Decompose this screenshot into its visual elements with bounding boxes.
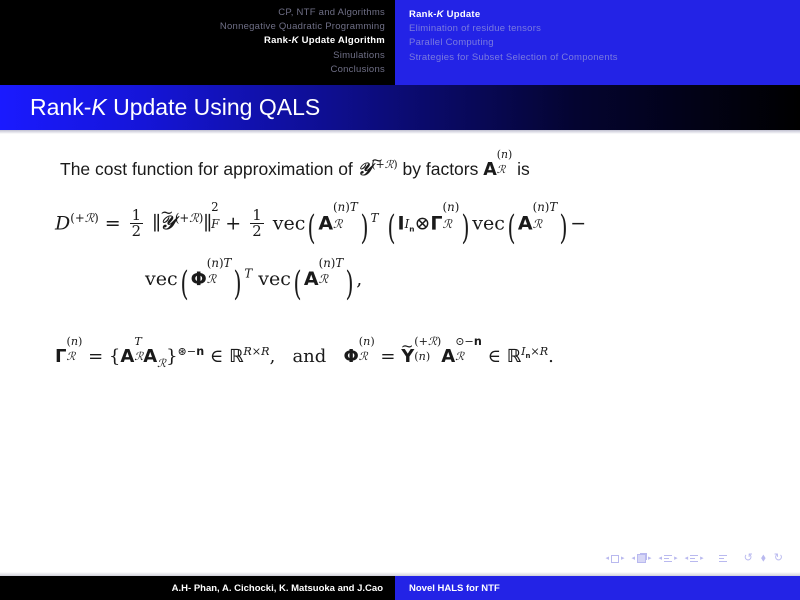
nav-item-label: CP, NTF and Algorithms — [278, 7, 385, 18]
footer-paper-title: Novel HALS for NTF — [409, 583, 500, 594]
lead-text-part2: by factors — [403, 159, 479, 179]
nav-item-nonnegative-quadratic-programming[interactable]: Nonnegative Quadratic Programming — [220, 20, 385, 34]
nav-item-label-suffix: Update — [444, 9, 481, 20]
frame-cube-icon[interactable] — [637, 554, 646, 563]
nav-item-rank-k-update-algorithm[interactable]: Rank-K Update Algorithm — [264, 34, 385, 48]
nav-item-cp-ntf-and-algorithms[interactable]: CP, NTF and Algorithms — [278, 6, 385, 20]
footer-authors: A.H- Phan, A. Cichocki, K. Matsuoka and … — [172, 583, 383, 594]
next-section-triangle-icon[interactable]: ▸ — [700, 555, 704, 562]
subsection-bars-icon[interactable] — [664, 555, 672, 562]
slide-title-bar: Rank-K Update Using QALS — [0, 85, 800, 130]
forward-arrow-icon[interactable]: ↻ — [774, 553, 784, 564]
lead-sentence: The cost function for approximation of ~… — [60, 156, 530, 180]
nav-item-label-prefix: Rank- — [264, 35, 292, 46]
nav-item-strategies-for-subset-selection[interactable]: Strategies for Subset Selection of Compo… — [409, 51, 618, 65]
nav-item-label: Elimination of residue tensors — [409, 23, 541, 34]
back-arrow-icon[interactable]: ↺ — [744, 553, 754, 564]
presentation-slide: CP, NTF and Algorithms Nonnegative Quadr… — [0, 0, 800, 600]
slide-navigation-group[interactable]: ◂ ▸ — [605, 555, 624, 563]
nav-item-conclusions[interactable]: Conclusions — [331, 63, 386, 77]
slide-body: The cost function for approximation of ~… — [0, 134, 800, 574]
cost-function-equation-line1: D(+ℛ) = 12 ∥~𝒴(+ℛ)∥2F + 12 vec(A(n)Tℛ)T … — [55, 208, 586, 247]
vec-operator-label-2: vec — [472, 212, 505, 234]
and-connector-label: and — [292, 346, 326, 367]
cost-function-equation-line2: vec(Φ(n)Tℛ)T vec(A(n)Tℛ), — [145, 264, 362, 303]
gamma-phi-definitions-equation: Γ(n)ℛ = {ATℛAℛ}⊛−n ∈ ℝR×R, and Φ(n)ℛ = ~… — [55, 342, 554, 367]
next-slide-triangle-icon[interactable]: ▸ — [621, 555, 625, 562]
presentation-overview-bars-icon[interactable] — [719, 555, 727, 562]
tensor-y-plus-r-symbol: ~𝒴(+ℛ) — [358, 160, 398, 180]
nav-item-label-prefix: Rank- — [409, 9, 437, 20]
subsection-navigation: Rank-K Update Elimination of residue ten… — [395, 0, 800, 85]
nav-item-label: Simulations — [333, 50, 385, 61]
subsection-navigation-group[interactable]: ◂ ▸ — [659, 555, 678, 562]
vec-operator-label-4: vec — [258, 268, 291, 290]
nav-item-label: Nonnegative Quadratic Programming — [220, 21, 385, 32]
nav-item-label: Parallel Computing — [409, 37, 494, 48]
nav-item-elimination-of-residue-tensors[interactable]: Elimination of residue tensors — [409, 22, 541, 36]
previous-section-triangle-icon[interactable]: ◂ — [685, 555, 689, 562]
nav-item-label-variable: K — [437, 9, 444, 20]
lead-text-part1: The cost function for approximation of — [60, 159, 353, 179]
page-title-prefix: Rank- — [30, 94, 91, 120]
slide-header-navigation: CP, NTF and Algorithms Nonnegative Quadr… — [0, 0, 800, 85]
beamer-navigation-symbols: ◂ ▸ ◂ ▸ ◂ ▸ ◂ ▸ ↺ ⬧ ↻ — [605, 553, 784, 564]
nav-item-parallel-computing[interactable]: Parallel Computing — [409, 36, 494, 50]
page-title-suffix: Update Using QALS — [107, 94, 321, 120]
previous-subsection-triangle-icon[interactable]: ◂ — [659, 555, 663, 562]
nav-item-label-variable: K — [292, 35, 299, 46]
frame-navigation-group[interactable]: ◂ ▸ — [632, 554, 652, 563]
slide-footer: A.H- Phan, A. Cichocki, K. Matsuoka and … — [0, 576, 800, 600]
section-bars-icon[interactable] — [690, 555, 698, 562]
nav-item-simulations[interactable]: Simulations — [333, 49, 385, 63]
factor-matrix-a-symbol: A(n)ℛ — [483, 160, 512, 180]
tilde-accent-icon: ~ — [371, 151, 383, 169]
nav-item-label: Conclusions — [331, 64, 386, 75]
next-frame-triangle-icon[interactable]: ▸ — [648, 555, 652, 562]
footer-title-region: Novel HALS for NTF — [395, 576, 800, 600]
search-icon[interactable]: ⬧ — [761, 553, 767, 564]
nav-item-label: Strategies for Subset Selection of Compo… — [409, 52, 618, 63]
section-navigation: CP, NTF and Algorithms Nonnegative Quadr… — [0, 0, 395, 85]
footer-authors-region: A.H- Phan, A. Cichocki, K. Matsuoka and … — [0, 576, 395, 600]
vec-operator-label: vec — [273, 212, 306, 234]
page-title: Rank-K Update Using QALS — [0, 94, 320, 121]
previous-frame-triangle-icon[interactable]: ◂ — [632, 555, 636, 562]
previous-slide-triangle-icon[interactable]: ◂ — [605, 555, 609, 562]
page-title-variable: K — [91, 94, 106, 120]
slide-square-icon[interactable] — [611, 555, 619, 563]
lead-text-part3: is — [517, 159, 530, 179]
nav-item-rank-k-update[interactable]: Rank-K Update — [409, 8, 480, 22]
nav-item-label-suffix: Update Algorithm — [299, 35, 385, 46]
next-subsection-triangle-icon[interactable]: ▸ — [674, 555, 678, 562]
section-navigation-group[interactable]: ◂ ▸ — [685, 555, 704, 562]
vec-operator-label-3: vec — [145, 268, 178, 290]
